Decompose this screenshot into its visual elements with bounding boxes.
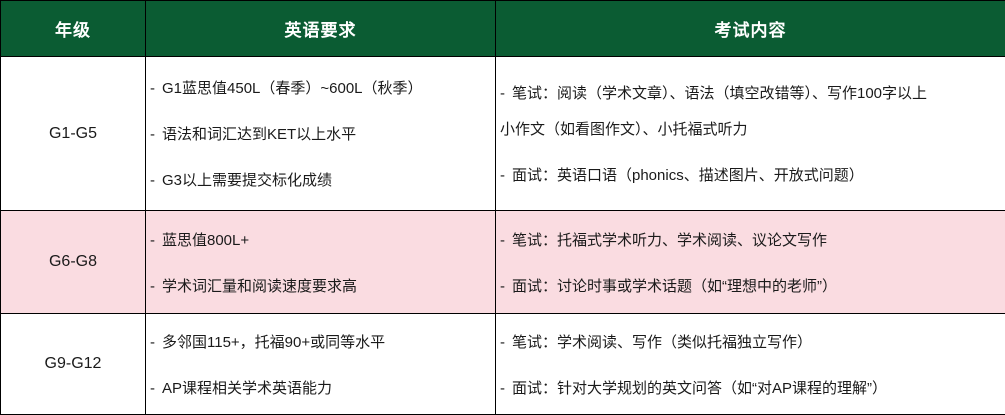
- dash-marker: -: [150, 272, 162, 302]
- list-item-text: 小作文（如看图作文）、小托福式听力: [500, 121, 748, 138]
- list-item-text: 面试：针对大学规划的英文问答（如“对AP课程的理解”）: [512, 380, 887, 397]
- list-item-text: AP课程相关学术英语能力: [162, 380, 332, 397]
- list-item-text: 语法和词汇达到KET以上水平: [162, 126, 356, 143]
- grade-label: G9-G12: [1, 314, 146, 415]
- dash-marker: -: [500, 374, 512, 404]
- list-item: -蓝思值800L+: [150, 226, 495, 256]
- list-item: -G1蓝思值450L（春季）~600L（秋季）: [150, 74, 495, 104]
- dash-marker: -: [500, 272, 512, 302]
- dash-marker: -: [500, 79, 512, 109]
- column-header-exam-content: 考试内容: [496, 1, 1005, 57]
- list-item-text: 多邻国115+，托福90+或同等水平: [162, 334, 385, 351]
- dash-marker: -: [150, 328, 162, 358]
- table-header: 年级 英语要求 考试内容: [1, 1, 1005, 57]
- grade-label: G6-G8: [1, 211, 146, 314]
- english-requirement-cell: -多邻国115+，托福90+或同等水平 -AP课程相关学术英语能力: [146, 314, 496, 415]
- dash-marker: -: [500, 161, 512, 191]
- list-item: -笔试：阅读（学术文章）、语法（填空改错等）、写作100字以上: [500, 79, 1005, 109]
- table-row: G9-G12 -多邻国115+，托福90+或同等水平 -AP课程相关学术英语能力…: [1, 314, 1005, 415]
- list-item: -笔试：学术阅读、写作（类似托福独立写作）: [500, 328, 1005, 358]
- list-item-continuation: 小作文（如看图作文）、小托福式听力: [500, 115, 1005, 145]
- dash-marker: -: [150, 226, 162, 256]
- exam-content-cell: -笔试：学术阅读、写作（类似托福独立写作） -面试：针对大学规划的英文问答（如“…: [496, 314, 1005, 415]
- list-item-text: 面试：英语口语（phonics、描述图片、开放式问题）: [512, 167, 864, 184]
- column-header-english-requirement: 英语要求: [146, 1, 496, 57]
- table-row-highlighted: G6-G8 -蓝思值800L+ -学术词汇量和阅读速度要求高 -笔试：托福式学术…: [1, 211, 1005, 314]
- list-item: -面试：讨论时事或学术话题（如“理想中的老师”）: [500, 272, 1005, 302]
- table-row: G1-G5 -G1蓝思值450L（春季）~600L（秋季） -语法和词汇达到KE…: [1, 57, 1005, 211]
- header-row: 年级 英语要求 考试内容: [1, 1, 1005, 57]
- list-item-text: 学术词汇量和阅读速度要求高: [162, 278, 357, 295]
- english-requirements-table: 年级 英语要求 考试内容 G1-G5 -G1蓝思值450L（春季）~600L（秋…: [0, 0, 1005, 415]
- exam-content-cell: -笔试：阅读（学术文章）、语法（填空改错等）、写作100字以上 小作文（如看图作…: [496, 57, 1005, 211]
- list-item: -笔试：托福式学术听力、学术阅读、议论文写作: [500, 226, 1005, 256]
- list-item: -多邻国115+，托福90+或同等水平: [150, 328, 495, 358]
- dash-marker: -: [500, 328, 512, 358]
- list-item-text: 笔试：学术阅读、写作（类似托福独立写作）: [512, 334, 812, 351]
- list-item-text: 笔试：托福式学术听力、学术阅读、议论文写作: [512, 232, 827, 249]
- dash-marker: -: [150, 374, 162, 404]
- list-item-text: G3以上需要提交标化成绩: [162, 172, 332, 189]
- list-item-text: G1蓝思值450L（春季）~600L（秋季）: [162, 80, 423, 97]
- grade-label: G1-G5: [1, 57, 146, 211]
- table-body: G1-G5 -G1蓝思值450L（春季）~600L（秋季） -语法和词汇达到KE…: [1, 57, 1005, 415]
- dash-marker: -: [150, 166, 162, 196]
- exam-content-cell: -笔试：托福式学术听力、学术阅读、议论文写作 -面试：讨论时事或学术话题（如“理…: [496, 211, 1005, 314]
- list-item-text: 笔试：阅读（学术文章）、语法（填空改错等）、写作100字以上: [512, 85, 927, 102]
- dash-marker: -: [150, 120, 162, 150]
- dash-marker: -: [500, 226, 512, 256]
- list-item-text: 蓝思值800L+: [162, 232, 249, 249]
- english-requirement-cell: -G1蓝思值450L（春季）~600L（秋季） -语法和词汇达到KET以上水平 …: [146, 57, 496, 211]
- dash-marker: -: [150, 74, 162, 104]
- list-item: -面试：英语口语（phonics、描述图片、开放式问题）: [500, 161, 1005, 191]
- column-header-grade: 年级: [1, 1, 146, 57]
- list-item-text: 面试：讨论时事或学术话题（如“理想中的老师”）: [512, 278, 837, 295]
- list-item: -AP课程相关学术英语能力: [150, 374, 495, 404]
- list-item: -学术词汇量和阅读速度要求高: [150, 272, 495, 302]
- english-requirement-cell: -蓝思值800L+ -学术词汇量和阅读速度要求高: [146, 211, 496, 314]
- list-item: -G3以上需要提交标化成绩: [150, 166, 495, 196]
- list-item: -面试：针对大学规划的英文问答（如“对AP课程的理解”）: [500, 374, 1005, 404]
- list-item: -语法和词汇达到KET以上水平: [150, 120, 495, 150]
